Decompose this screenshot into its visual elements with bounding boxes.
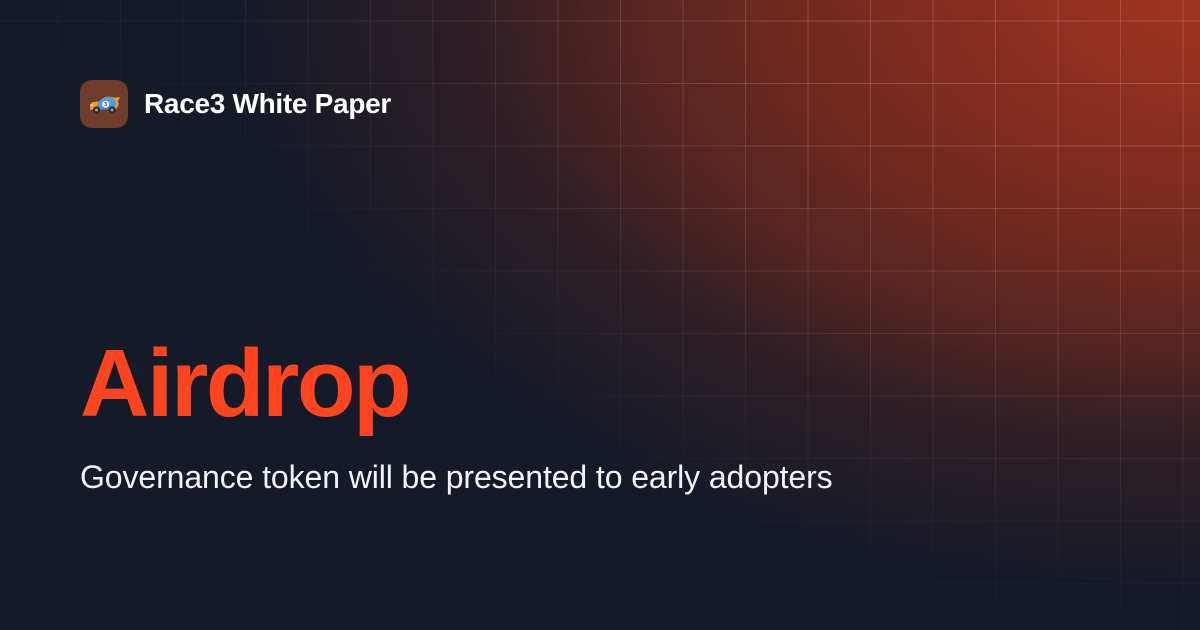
brand-header: 3 Race3 White Paper [80, 80, 391, 128]
page-subtitle: Governance token will be presented to ea… [80, 456, 840, 498]
brand-title: Race3 White Paper [144, 88, 391, 120]
page-title: Airdrop [80, 336, 880, 432]
racing-car-icon: 3 [80, 80, 128, 128]
card-content: 3 Race3 White Paper Airdrop Governance t… [0, 0, 1200, 630]
svg-text:3: 3 [104, 102, 107, 108]
hero-block: Airdrop Governance token will be present… [80, 336, 880, 498]
og-card: 3 Race3 White Paper Airdrop Governance t… [0, 0, 1200, 630]
